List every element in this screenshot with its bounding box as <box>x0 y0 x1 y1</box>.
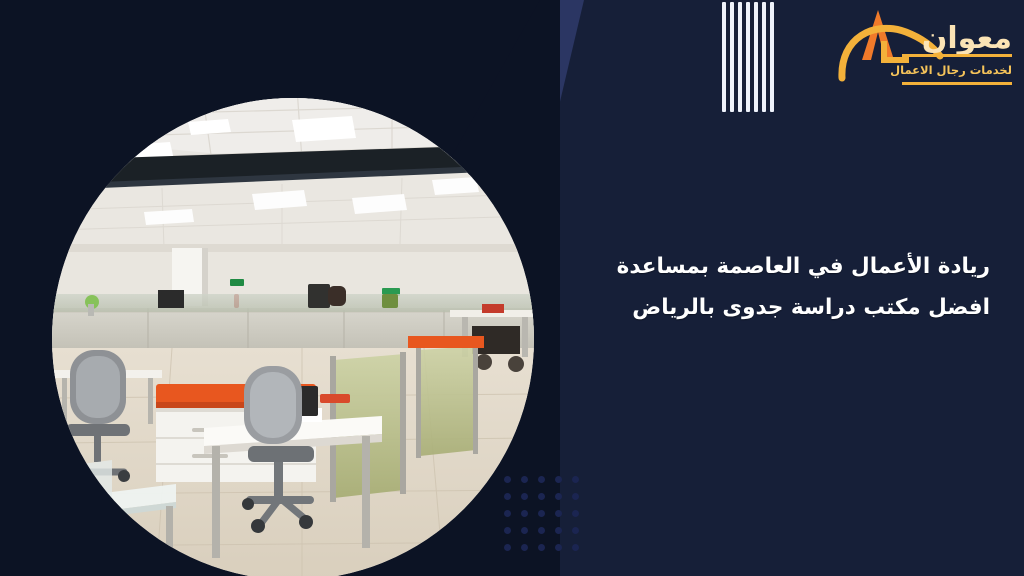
dot-grid-ornament <box>504 476 589 561</box>
headline: ريادة الأعمال في العاصمة بمساعدة افضل مك… <box>570 246 990 329</box>
maawan-logo[interactable]: معوان لخدمات رجال الاعمال <box>828 4 1018 96</box>
dot <box>555 476 562 483</box>
dot <box>521 510 528 517</box>
dot <box>555 510 562 517</box>
headline-line-1: ريادة الأعمال في العاصمة بمساعدة <box>570 246 990 287</box>
dot <box>504 527 511 534</box>
dot <box>521 493 528 500</box>
bar-7 <box>770 2 774 112</box>
dot <box>555 544 562 551</box>
dot <box>572 544 579 551</box>
dot <box>572 527 579 534</box>
dot <box>572 476 579 483</box>
dot <box>538 544 545 551</box>
bar-1 <box>722 2 726 112</box>
dot <box>504 544 511 551</box>
dot <box>521 476 528 483</box>
bar-5 <box>754 2 758 112</box>
bar-3 <box>738 2 742 112</box>
dot <box>572 493 579 500</box>
dot <box>521 544 528 551</box>
dot <box>538 493 545 500</box>
dot <box>555 527 562 534</box>
banner-canvas: معوان لخدمات رجال الاعمال ريادة الأعمال … <box>0 0 1024 576</box>
dot <box>504 493 511 500</box>
headline-line-2: افضل مكتب دراسة جدوى بالرياض <box>570 287 990 328</box>
dot <box>504 476 511 483</box>
dot <box>538 527 545 534</box>
logo-tagline-text: لخدمات رجال الاعمال <box>890 63 1012 77</box>
dot <box>504 510 511 517</box>
dot <box>538 476 545 483</box>
logo-name-text: معوان <box>922 21 1012 56</box>
bar-2 <box>730 2 734 112</box>
office-photo <box>52 98 534 576</box>
dot <box>572 510 579 517</box>
bar-6 <box>762 2 766 112</box>
dot <box>521 527 528 534</box>
dot <box>555 493 562 500</box>
dot <box>538 510 545 517</box>
vertical-bars-ornament <box>722 2 774 112</box>
bar-4 <box>746 2 750 112</box>
